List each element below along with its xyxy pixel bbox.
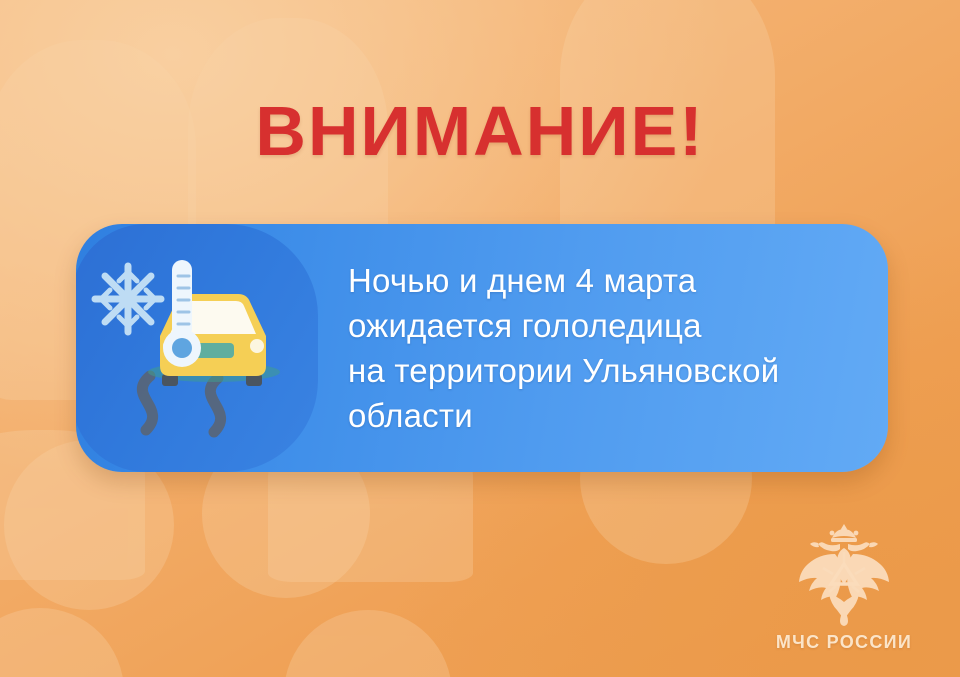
alert-message: Ночью и днем 4 марта ожидается гололедиц… [314,258,888,438]
icy-road-car-icon [90,248,300,448]
skid-marks-icon [142,376,220,432]
page-title: ВНИМАНИЕ! [0,96,960,166]
icon-panel [76,224,314,472]
emercom-label: МЧС РОССИИ [776,632,912,653]
snowflake-icon [95,266,161,332]
emercom-russia-logo: МЧС РОССИИ [764,522,924,653]
double-headed-eagle-icon [785,522,903,626]
alert-card: Ночью и днем 4 марта ожидается гололедиц… [76,224,888,472]
